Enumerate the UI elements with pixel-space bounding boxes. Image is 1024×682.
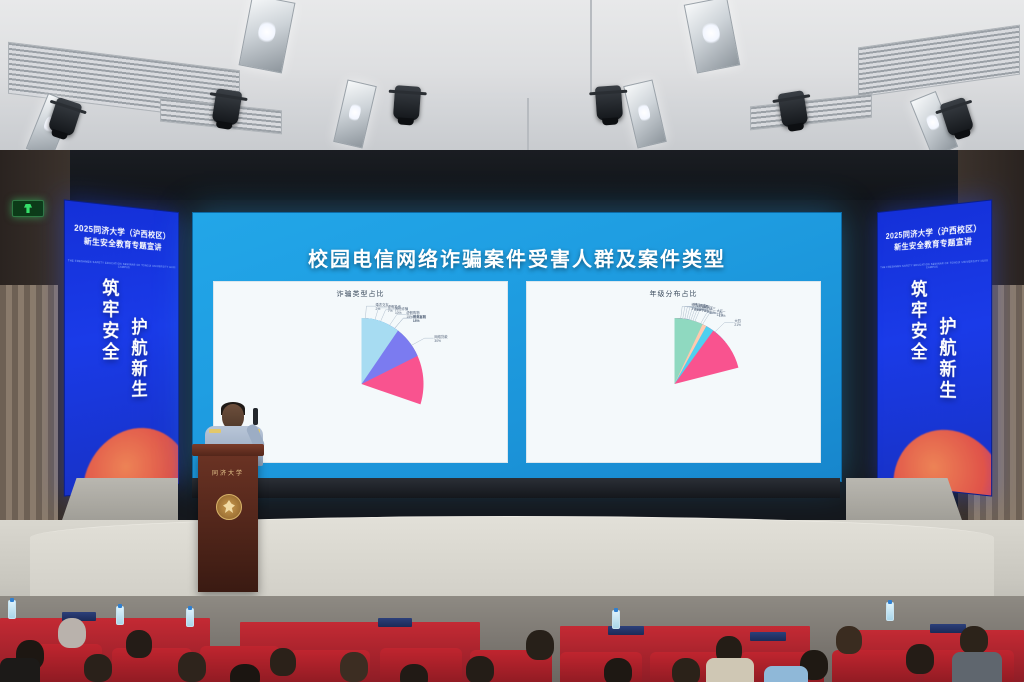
table-nameplate xyxy=(378,618,412,627)
pie-leader-line xyxy=(395,318,413,328)
audience-person-torso xyxy=(764,666,808,682)
right-banner-screen: 2025同济大学（沪西校区） 新生安全教育专题宣讲 THE FRESHMEN S… xyxy=(877,199,992,496)
chart-title-0: 诈骗类型占比 xyxy=(214,289,507,299)
pie-slice-label: 大四21% xyxy=(734,319,741,327)
pie-slice-label: 大三13% xyxy=(717,309,724,317)
audience-person xyxy=(960,626,988,654)
audience-person xyxy=(126,630,152,658)
podium: 同济大学 xyxy=(198,452,258,592)
exit-sign xyxy=(12,200,44,217)
pie-slice-label: 其他诈骗10% xyxy=(395,307,408,315)
audience-area xyxy=(0,596,1024,682)
pie-slices-1 xyxy=(675,318,739,384)
water-bottle xyxy=(116,606,124,625)
left-banner-screen: 2025同济大学（沪西校区） 新生安全教育专题宣讲 THE FRESHMEN S… xyxy=(64,199,179,496)
audience-person xyxy=(340,652,368,682)
audience-person xyxy=(836,626,862,654)
pie-slice-label: 冒充客服18% xyxy=(413,315,426,323)
table-nameplate xyxy=(930,624,966,633)
ceiling-rod xyxy=(527,98,529,150)
auditorium-photo: 2025同济大学（沪西校区） 新生安全教育专题宣讲 THE FRESHMEN S… xyxy=(0,0,1024,682)
chart-title-1: 年级分布占比 xyxy=(527,289,820,299)
water-bottle xyxy=(612,610,620,629)
banner-vertical-right: 护航新生 xyxy=(935,316,960,402)
audience-person xyxy=(270,648,296,676)
banner-heading: 2025同济大学（沪西校区） 新生安全教育专题宣讲 xyxy=(878,221,991,255)
slide-chart-panels: 诈骗类型占比 刷单返利18%网络贷款30%虚假购物15%冒充客服18%虚假投资7… xyxy=(213,281,821,463)
stage-spotlight xyxy=(393,85,421,121)
audience-person xyxy=(400,664,428,682)
stage-riser-right xyxy=(846,478,964,526)
pie-slices-0 xyxy=(362,318,424,404)
banner-vertical-right: 护航新生 xyxy=(127,317,151,401)
audience-person-torso xyxy=(0,658,40,682)
banner-heading: 2025同济大学（沪西校区） 新生安全教育专题宣讲 xyxy=(65,221,178,255)
water-bottle xyxy=(8,600,16,619)
audience-person xyxy=(58,618,86,648)
audience-seat xyxy=(832,650,916,682)
audience-person-torso xyxy=(706,658,754,682)
banner-vertical-left: 筑牢安全 xyxy=(98,278,123,364)
podium-label: 同济大学 xyxy=(198,468,258,477)
stage-spotlight xyxy=(778,90,809,128)
university-crest-icon xyxy=(216,494,242,520)
audience-person xyxy=(672,658,700,682)
pie-slice-label: 网络贷款30% xyxy=(434,335,447,343)
banner-subtitle: THE FRESHMEN SAFETY EDUCATION SEMINAR OF… xyxy=(65,259,178,272)
podium-top xyxy=(192,444,264,456)
main-led-screen: 校园电信网络诈骗案件受害人群及案件类型 诈骗类型占比 刷单返利18%网络贷款30… xyxy=(192,212,842,482)
slide-title: 校园电信网络诈骗案件受害人群及案件类型 xyxy=(193,243,841,272)
pie-chart-1: 大一14%大二9%大三13%大四21%研究生一5%研二6%研三10%博一8%博二… xyxy=(527,302,820,462)
audience-person xyxy=(230,664,260,682)
chart-panel-grade-dist: 年级分布占比 大一14%大二9%大三13%大四21%研究生一5%研二6%研三10… xyxy=(526,281,821,463)
pie-slice-label: 博四7% xyxy=(702,305,709,313)
audience-person xyxy=(906,644,934,674)
pie-leader-line xyxy=(412,338,434,345)
pie-slice-label: 博三3% xyxy=(691,303,698,311)
pie-leader-line xyxy=(715,322,734,331)
audience-person xyxy=(604,658,632,682)
audience-person xyxy=(526,630,554,660)
banner-subtitle: THE FRESHMEN SAFETY EDUCATION SEMINAR OF… xyxy=(878,259,991,272)
water-bottle xyxy=(186,608,194,627)
pie-leader-line xyxy=(390,315,406,326)
water-bottle xyxy=(886,602,894,621)
pie-svg-1 xyxy=(527,302,820,462)
stage-spotlight xyxy=(595,85,623,121)
pie-leader-line xyxy=(395,318,413,328)
stage-spotlight xyxy=(212,88,243,126)
table-nameplate xyxy=(750,632,786,641)
running-man-icon xyxy=(24,204,32,213)
audience-person-torso xyxy=(952,652,1002,682)
stage-riser-left xyxy=(60,478,178,526)
audience-person xyxy=(466,656,494,682)
stage-skirt xyxy=(192,478,840,498)
speaker-epaulette xyxy=(209,429,221,433)
audience-person xyxy=(178,652,206,682)
audience-person xyxy=(84,654,112,682)
ceiling-rod xyxy=(590,0,592,92)
microphone xyxy=(253,408,258,425)
banner-vertical-left: 筑牢安全 xyxy=(907,279,931,363)
pie-leader-line xyxy=(365,306,375,318)
pie-slice-label: 婚恋交友2% xyxy=(376,303,389,311)
